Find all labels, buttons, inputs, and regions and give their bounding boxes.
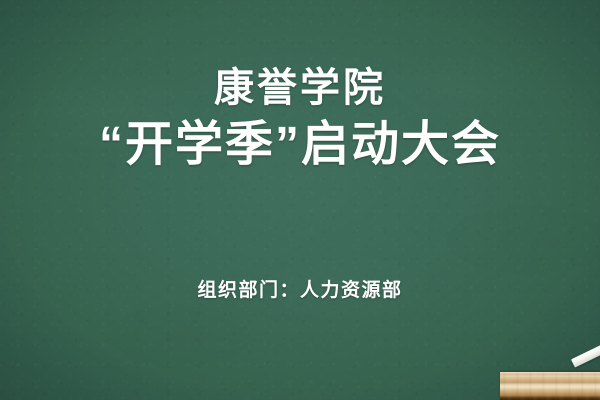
title-line-2: “开学季”启动大会: [0, 114, 600, 176]
slide-content: 康誉学院 “开学季”启动大会 组织部门：人力资源部: [0, 0, 600, 400]
slide-subtitle: 组织部门：人力资源部: [0, 278, 600, 304]
presentation-slide: 康誉学院 “开学季”启动大会 组织部门：人力资源部: [0, 0, 600, 400]
wooden-chalk-ledge: [500, 372, 600, 400]
slide-title: 康誉学院 “开学季”启动大会: [0, 62, 600, 176]
title-line-1: 康誉学院: [0, 62, 600, 114]
